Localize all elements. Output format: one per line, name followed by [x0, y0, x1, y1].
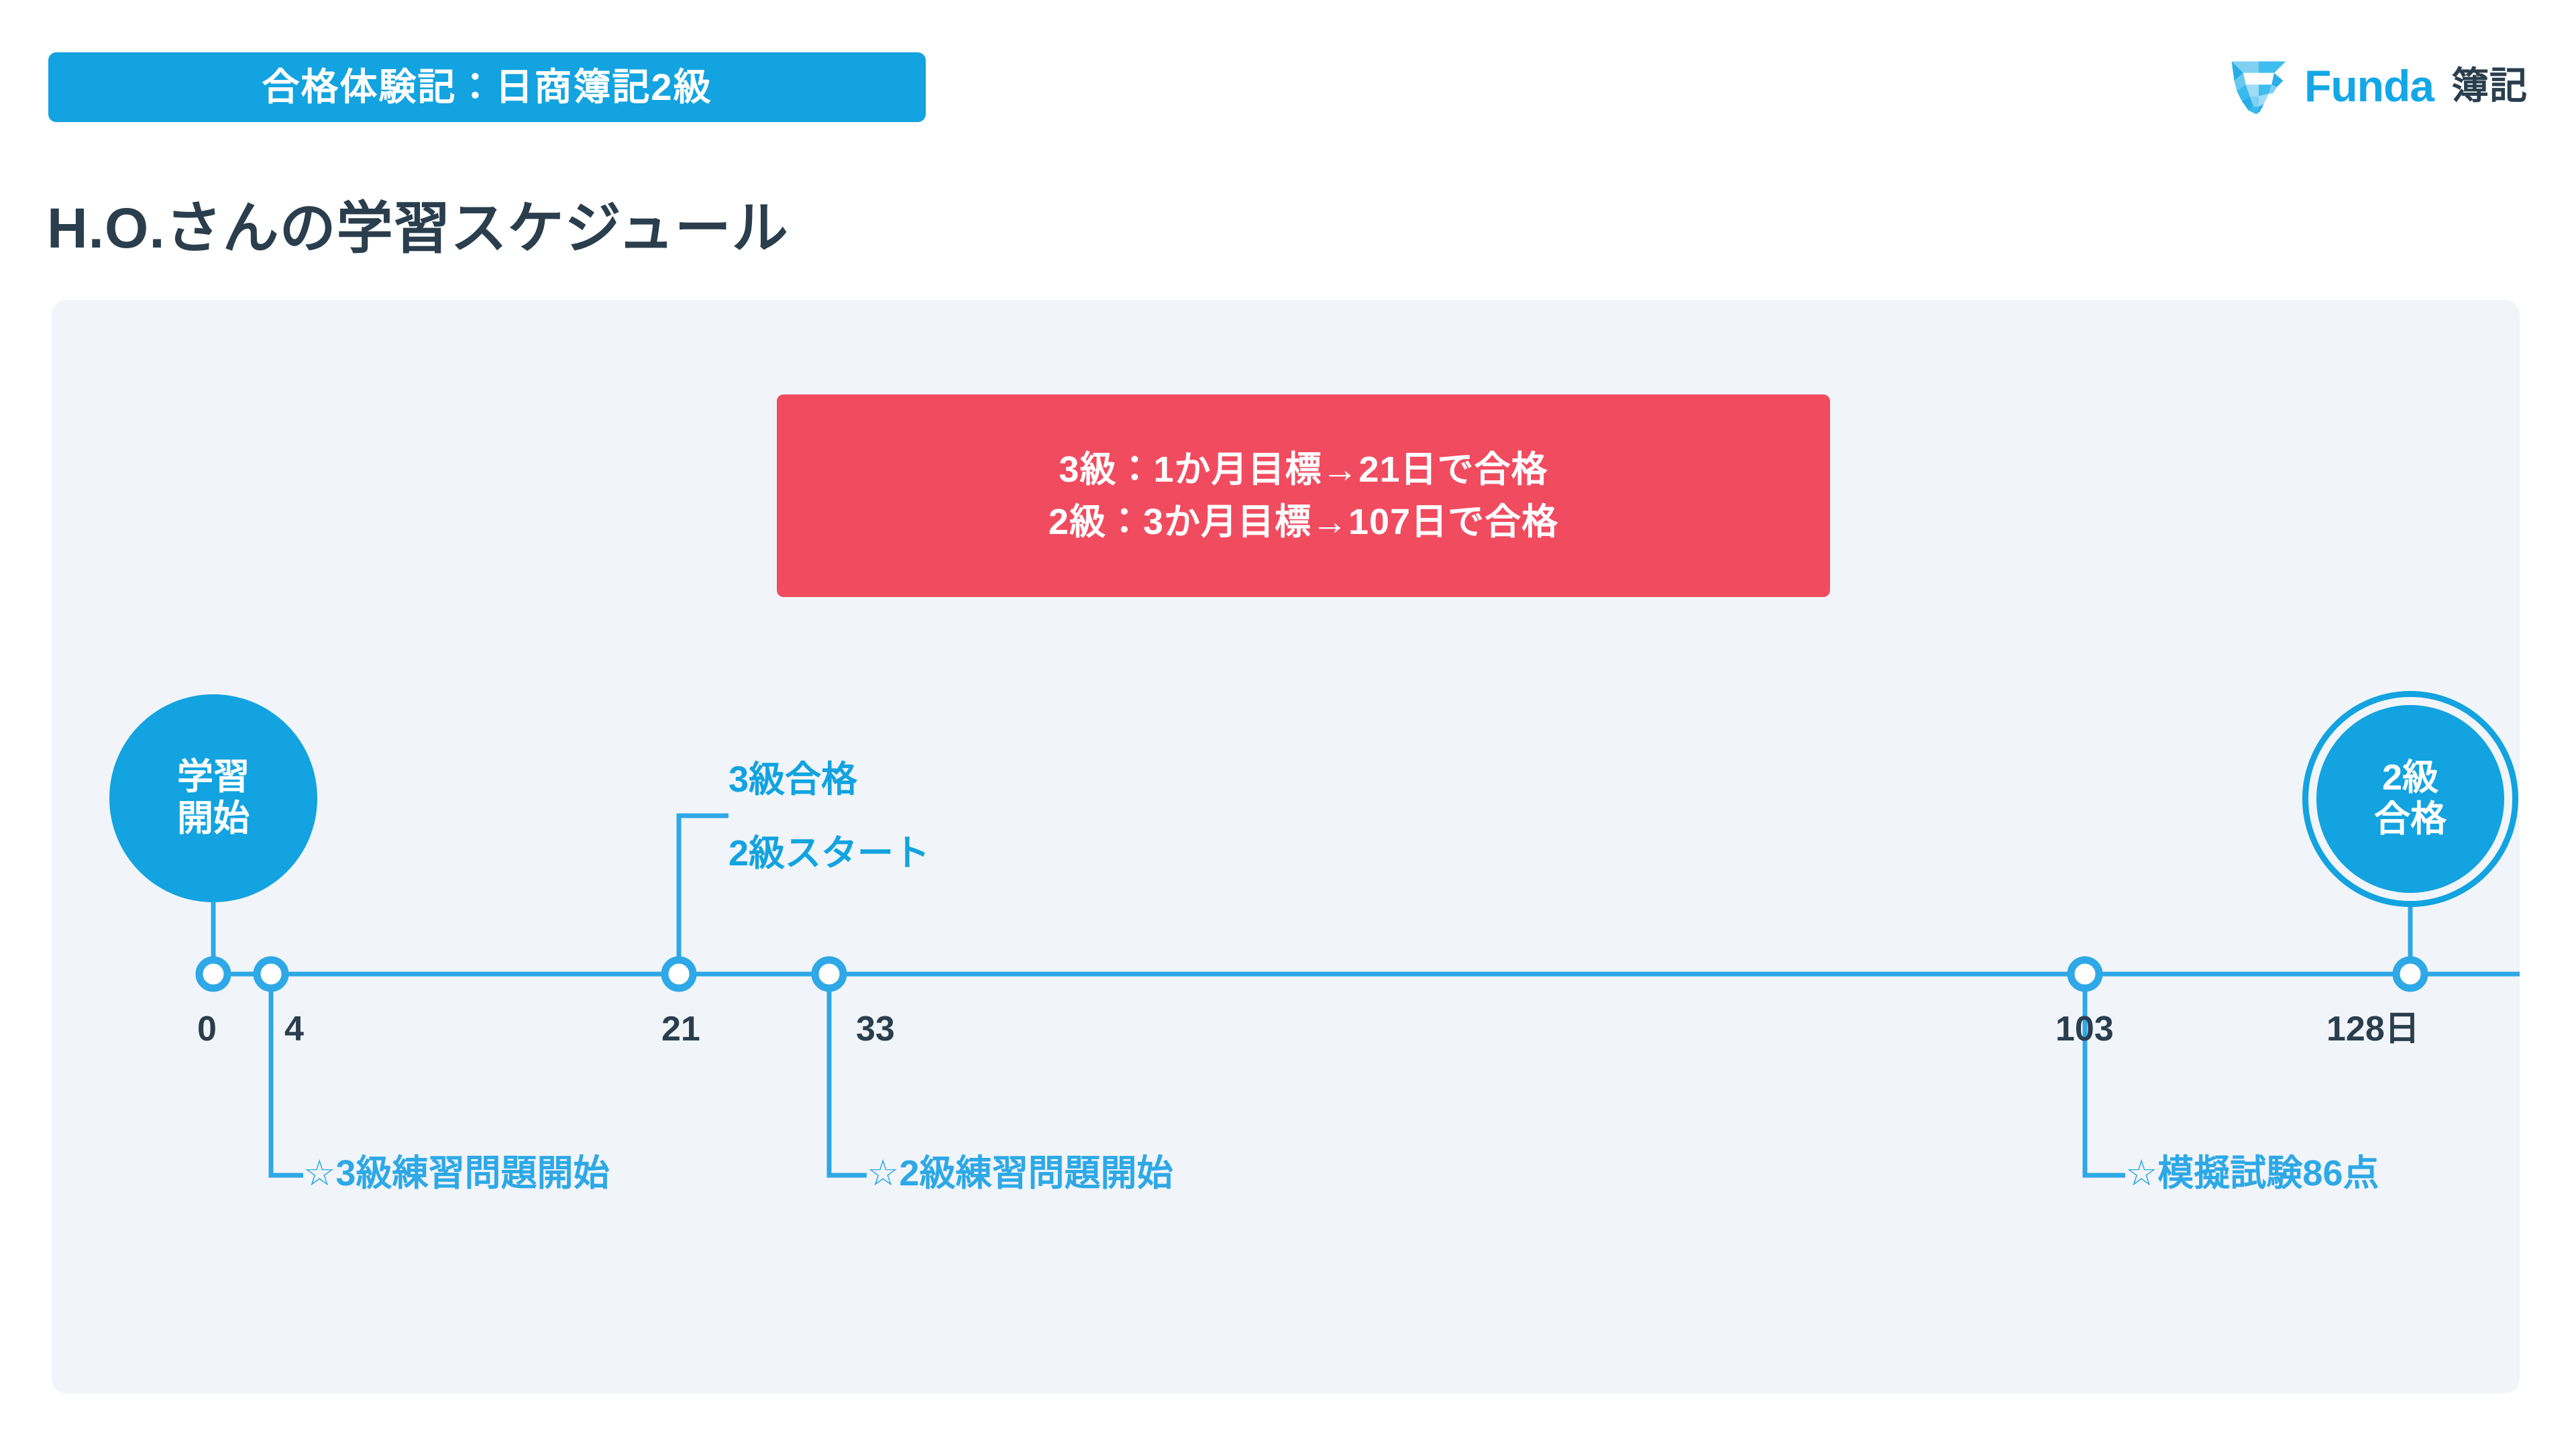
- note-grade2-start: 2級スタート: [729, 830, 930, 877]
- brand-wordmark: Funda: [2304, 64, 2434, 108]
- tick-label-day-128: 128日: [2326, 1012, 2420, 1046]
- node-grade2-pass-line1: 2級: [2382, 757, 2438, 799]
- goal-summary-callout: 3級：1か月目標→21日で合格 2級：3か月目標→107日で合格: [777, 394, 1830, 597]
- tick-label-day-103: 103: [2055, 1012, 2114, 1046]
- experience-badge: 合格体験記：日商簿記2級: [48, 52, 926, 122]
- tick-label-day-4: 4: [284, 1012, 304, 1046]
- experience-badge-label: 合格体験記：日商簿記2級: [262, 68, 712, 106]
- node-grade2-pass: 2級 合格: [2316, 705, 2504, 893]
- note-grade2-practice-start: ☆2級練習問題開始: [867, 1155, 1173, 1191]
- note-grade3-practice-start: ☆3級練習問題開始: [303, 1155, 609, 1191]
- funda-gem-icon: [2226, 54, 2291, 118]
- node-study-start: 学習 開始: [109, 694, 317, 902]
- page-title: H.O.さんの学習スケジュール: [47, 197, 789, 259]
- tick-label-day-21: 21: [661, 1012, 700, 1046]
- note-grade3-pass: 3級合格: [729, 757, 857, 803]
- node-grade2-pass-line2: 合格: [2374, 799, 2447, 841]
- goal-summary-line-grade2: 2級：3か月目標→107日で合格: [1049, 504, 1558, 540]
- note-mock-exam-score: ☆模擬試験86点: [2125, 1155, 2379, 1191]
- brand-suffix-label: 簿記: [2451, 67, 2528, 105]
- tick-label-day-0: 0: [197, 1012, 217, 1046]
- tick-label-day-33: 33: [856, 1012, 895, 1046]
- node-study-start-line1: 学習: [177, 757, 250, 798]
- goal-summary-line-grade3: 3級：1か月目標→21日で合格: [1059, 451, 1548, 488]
- node-study-start-line2: 開始: [177, 798, 250, 840]
- brand-logo: Funda 簿記: [2226, 52, 2528, 119]
